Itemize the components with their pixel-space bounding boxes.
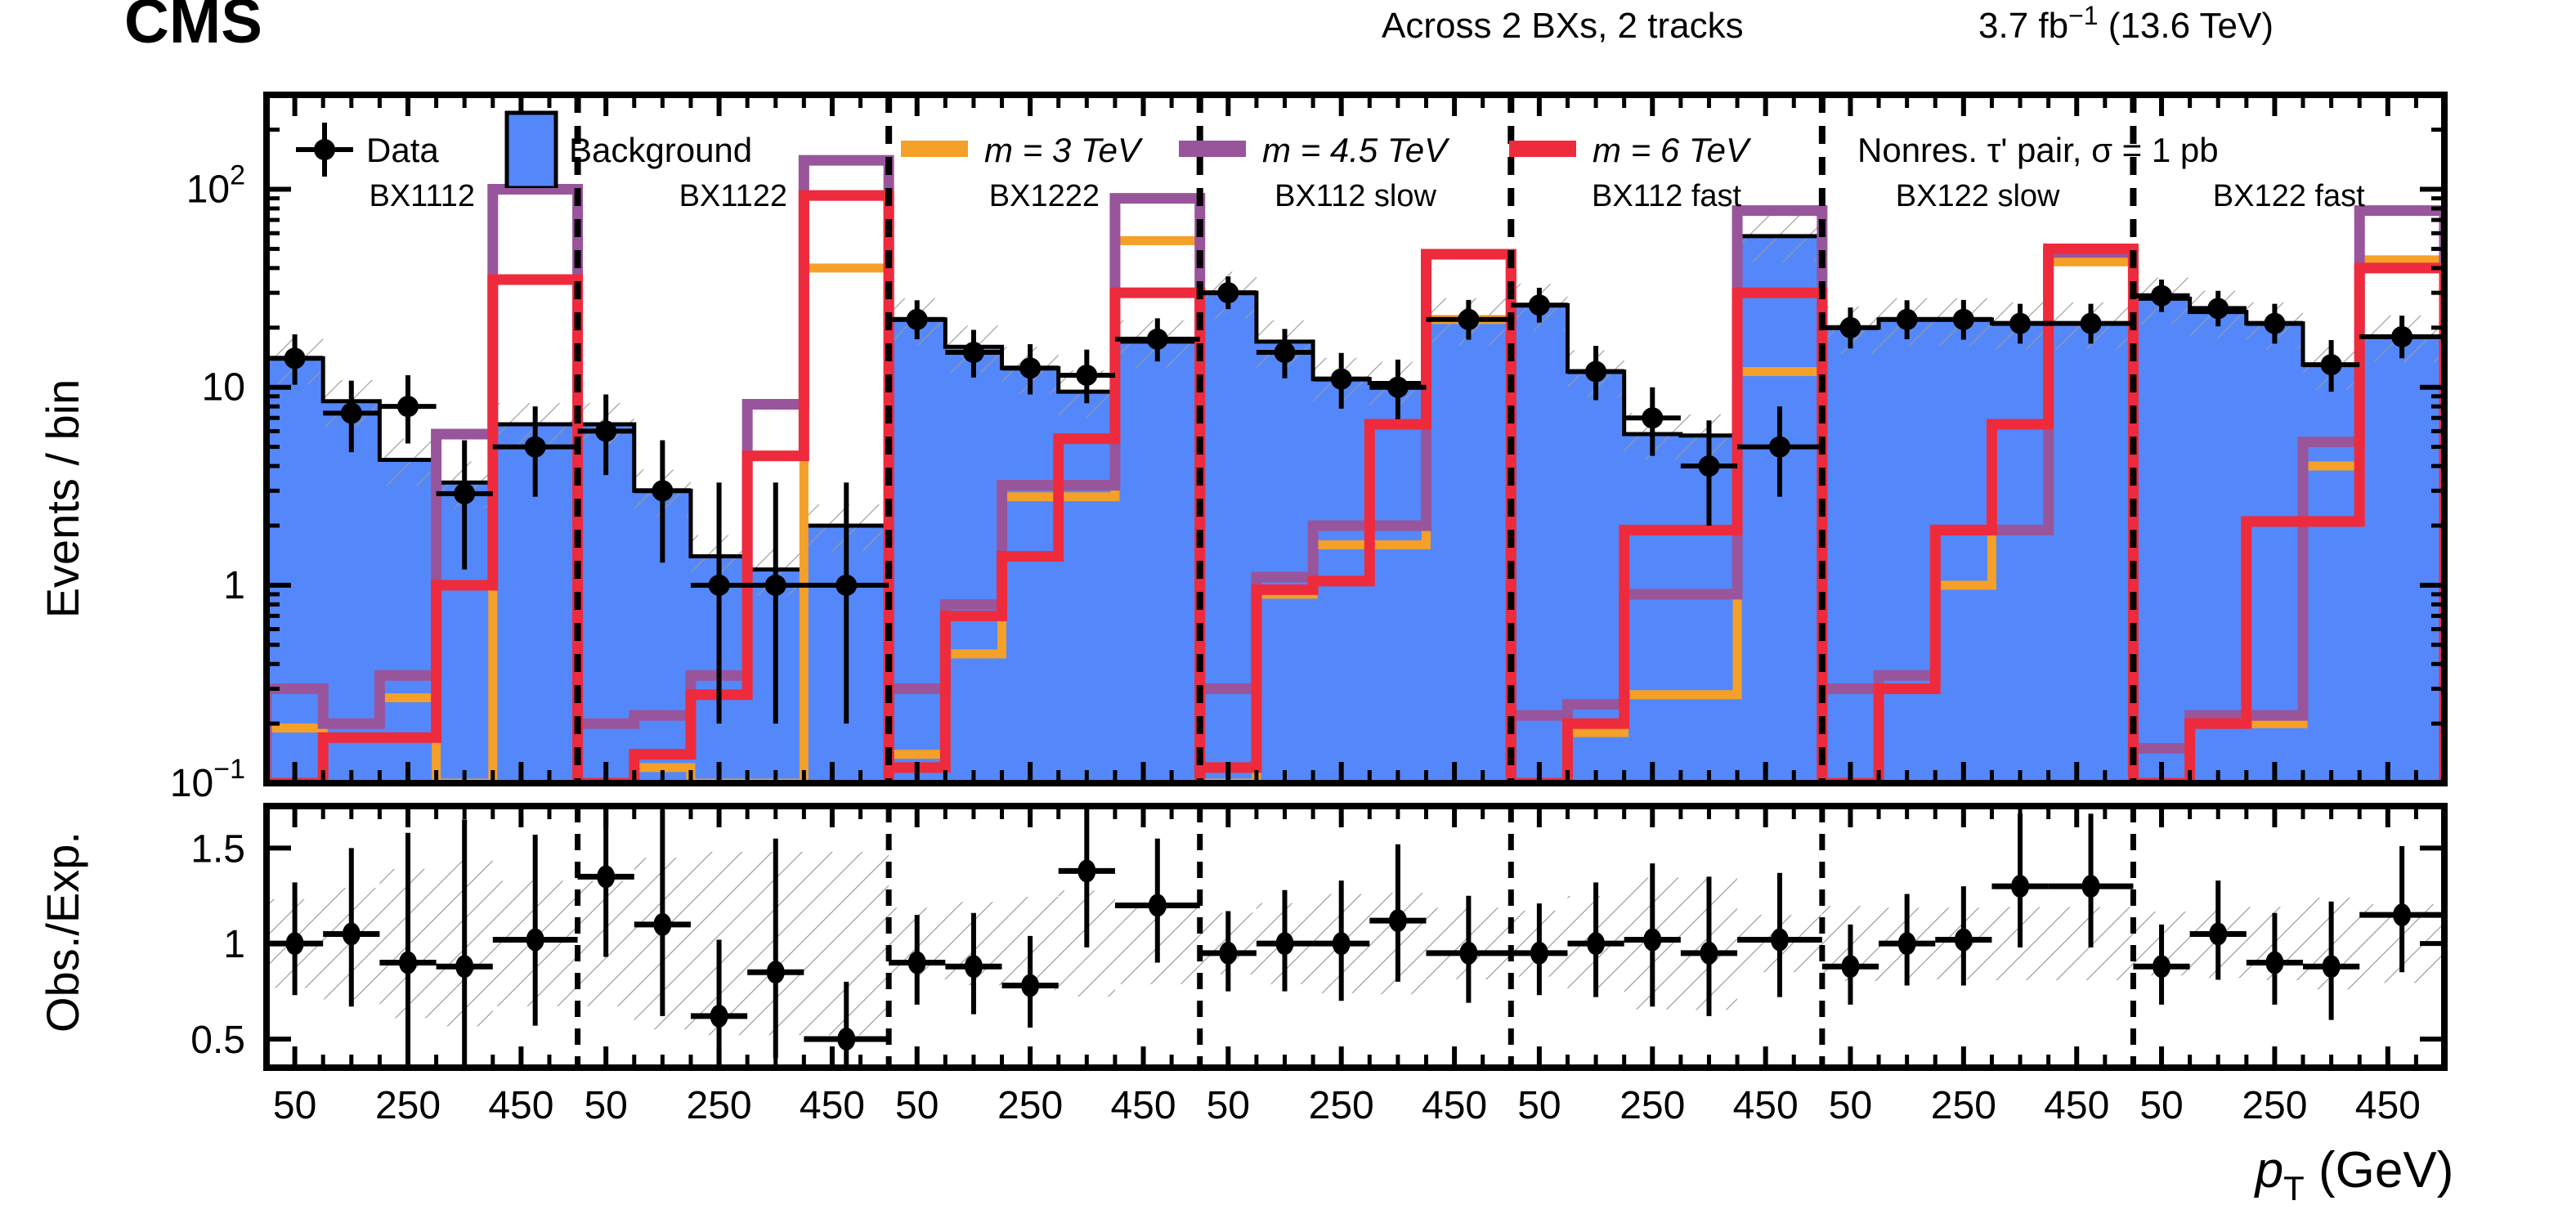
x-tick-label: 50 [273, 1084, 316, 1127]
x-tick-label: 50 [1517, 1084, 1561, 1127]
x-tick-label: 250 [2242, 1084, 2307, 1127]
category-label: BX112 slow [1275, 179, 1436, 213]
y-tick-label: 10 [202, 366, 245, 410]
ratio-y-tick-label: 1.5 [190, 827, 245, 871]
y-tick-label: 10−1 [170, 754, 245, 805]
x-tick-label: 450 [2355, 1084, 2421, 1127]
x-tick-label: 250 [687, 1084, 752, 1127]
x-tick-label: 250 [997, 1084, 1063, 1127]
category-label: BX1122 [679, 179, 787, 213]
x-tick-label: 50 [584, 1084, 627, 1127]
x-axis-title: pT (GeV) [2254, 1142, 2454, 1207]
y-tick-label: 1 [223, 564, 245, 607]
chart-canvas: 10210110−11.510.550250450502504505025045… [0, 0, 2576, 1232]
x-tick-label: 50 [1207, 1084, 1250, 1127]
x-tick-label: 450 [2044, 1084, 2109, 1127]
background-histogram [1822, 320, 2134, 783]
x-tick-label: 250 [1620, 1084, 1685, 1127]
cms-plot-figure: CMS Across 2 BXs, 2 tracks 3.7 fb−1 (13.… [0, 0, 2576, 1232]
category-label: BX112 fast [1592, 179, 1742, 213]
x-tick-label: 50 [895, 1084, 939, 1127]
ratio-y-tick-label: 0.5 [190, 1019, 245, 1062]
x-tick-label: 450 [1110, 1084, 1176, 1127]
category-label: BX122 slow [1896, 179, 2060, 213]
ratio-y-tick-label: 1 [223, 923, 245, 966]
x-tick-label: 50 [1829, 1084, 1872, 1127]
x-tick-label: 250 [1931, 1084, 1996, 1127]
x-tick-label: 450 [1422, 1084, 1487, 1127]
x-tick-label: 50 [2139, 1084, 2183, 1127]
x-tick-label: 450 [488, 1084, 553, 1127]
x-tick-label: 250 [375, 1084, 441, 1127]
category-label: BX1112 [369, 179, 475, 213]
category-label: BX1222 [989, 179, 1100, 213]
category-label: BX122 fast [2213, 179, 2365, 213]
x-tick-label: 450 [800, 1084, 865, 1127]
x-tick-label: 450 [1733, 1084, 1799, 1127]
y-tick-label: 102 [186, 160, 245, 212]
x-tick-label: 250 [1309, 1084, 1374, 1127]
